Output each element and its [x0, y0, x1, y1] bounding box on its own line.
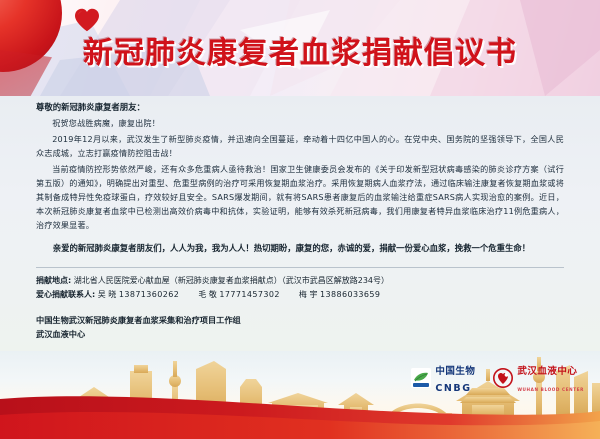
- contact-person-phone-1[interactable]: 13871360262: [119, 290, 179, 299]
- section-divider: [36, 267, 564, 268]
- paragraph-congrats: 祝贺您战胜病魔，康复出院！: [36, 116, 564, 130]
- cnbg-leaf-icon: [411, 368, 431, 388]
- donation-location-value: 湖北省人民医院爱心献血屋（新冠肺炎康复者血浆捐献点）（武汉市武昌区解放路234号…: [74, 276, 389, 285]
- poster-banner: 新冠肺炎康复者血浆捐献倡议书: [0, 0, 600, 96]
- paragraph-call-to-action: 亲爱的新冠肺炎康复者朋友们，人人为我，我为人人！热切期盼，康复的您，赤诚的爱，捐…: [36, 240, 564, 256]
- signature-org-line-1: 中国生物武汉新冠肺炎康复者血浆采集和治疗项目工作组: [36, 313, 564, 327]
- signature-block: 中国生物武汉新冠肺炎康复者血浆采集和治疗项目工作组 武汉血液中心: [36, 313, 564, 341]
- donation-location-line: 捐献地点: 湖北省人民医院爱心献血屋（新冠肺炎康复者血浆捐献点）（武汉市武昌区解…: [36, 274, 564, 288]
- logo-cnbg: 中国生物 CNBG: [411, 361, 475, 395]
- poster-root: 新冠肺炎康复者血浆捐献倡议书 尊敬的新冠肺炎康复者朋友： 祝贺您战胜病魔，康复出…: [0, 0, 600, 439]
- cnbg-logo-text: 中国生物 CNBG: [435, 361, 475, 395]
- donation-location-label: 捐献地点:: [36, 276, 71, 285]
- poster-footer: 中国生物 CNBG 武汉血液中心 WUHAN BLOOD CENTER: [0, 351, 600, 439]
- red-ribbon-wave: [0, 393, 600, 439]
- poster-body: 尊敬的新冠肺炎康复者朋友： 祝贺您战胜病魔，康复出院！ 2019年12月以来，武…: [0, 96, 600, 351]
- blood-drop-heart-icon: [493, 368, 513, 388]
- contact-person-phone-2[interactable]: 17771457302: [219, 290, 279, 299]
- contact-person-name-2: 毛 敬: [198, 290, 217, 299]
- wuhan-blood-center-logo-text: 武汉血液中心 WUHAN BLOOD CENTER: [517, 361, 584, 395]
- donation-contacts-label: 爱心捐献联系人:: [36, 290, 95, 299]
- contact-person-phone-3[interactable]: 13886033659: [320, 290, 380, 299]
- cnbg-logo-en: CNBG: [435, 383, 471, 394]
- cnbg-logo-cn: 中国生物: [435, 366, 475, 377]
- footer-logos: 中国生物 CNBG 武汉血液中心 WUHAN BLOOD CENTER: [411, 361, 584, 395]
- salutation-text: 尊敬的新冠肺炎康复者朋友：: [36, 100, 564, 115]
- poster-title-wrap: 新冠肺炎康复者血浆捐献倡议书: [0, 28, 600, 72]
- donation-contacts-line: 爱心捐献联系人: 吴 晓 13871360262 毛 敬 17771457302…: [36, 288, 564, 302]
- contact-person-name-3: 梅 宇: [299, 290, 318, 299]
- contact-person-name-1: 吴 晓: [98, 290, 117, 299]
- page-title: 新冠肺炎康复者血浆捐献倡议书: [83, 28, 517, 72]
- logo-wuhan-blood-center: 武汉血液中心 WUHAN BLOOD CENTER: [493, 361, 584, 395]
- paragraph-outbreak: 2019年12月以来，武汉发生了新型肺炎疫情，并迅速向全国蔓延，牵动着十四亿中国…: [36, 132, 564, 160]
- blood-drop-heart-glyph: [493, 368, 513, 388]
- poster-body-inner: 尊敬的新冠肺炎康复者朋友： 祝贺您战胜病魔，康复出院！ 2019年12月以来，武…: [36, 100, 564, 341]
- wuhan-blood-center-logo-en: WUHAN BLOOD CENTER: [517, 387, 584, 392]
- signature-org-line-2: 武汉血液中心: [36, 327, 564, 341]
- wuhan-blood-center-logo-cn: 武汉血液中心: [517, 366, 577, 377]
- paragraph-plasma-therapy: 当前疫情防控形势依然严峻，还有众多危重病人亟待救治！国家卫生健康委员会发布的《关…: [36, 162, 564, 232]
- cnbg-leaf-glyph: [411, 368, 431, 388]
